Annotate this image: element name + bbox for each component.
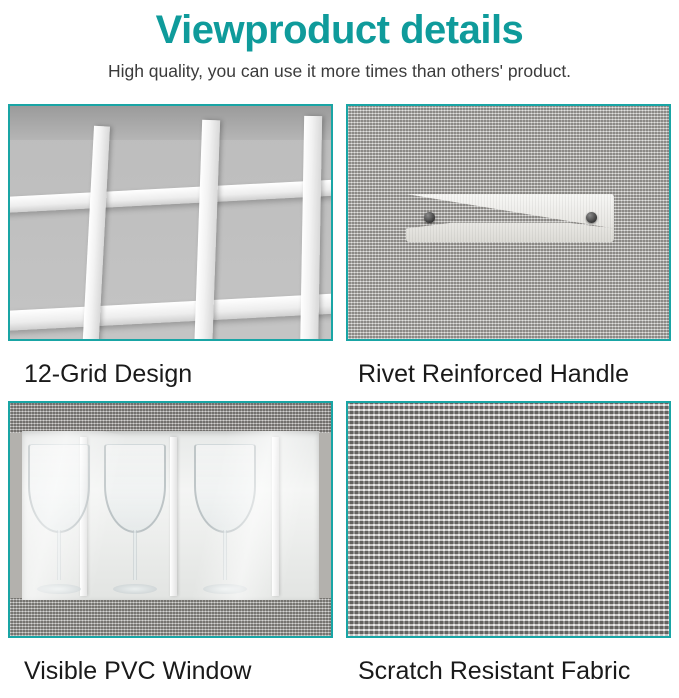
glass-foot: [113, 584, 157, 594]
feature-grid: 12-Grid Design Rivet Reinforced Handle: [8, 104, 671, 698]
feature-caption-2: Rivet Reinforced Handle: [346, 341, 671, 401]
feature-caption-3: Visible PVC Window: [8, 638, 333, 698]
pvc-window-glasses-photo: [8, 401, 333, 638]
product-detail-page: Viewproduct details High quality, you ca…: [0, 6, 679, 679]
fabric-weave-texture: [348, 403, 669, 636]
feature-caption-1: 12-Grid Design: [8, 341, 333, 401]
inner-divider-2: [170, 437, 177, 596]
divider-vertical-3: [300, 116, 322, 341]
box-bottom-edge: [10, 598, 331, 636]
feature-card-4: Scratch Resistant Fabric: [346, 401, 671, 698]
glass-stem: [133, 530, 137, 580]
box-rim: [10, 106, 331, 140]
fabric-closeup-photo: [346, 401, 671, 638]
feature-card-3: Visible PVC Window: [8, 401, 333, 698]
rivet-right: [586, 212, 597, 223]
pvc-window: [22, 431, 319, 600]
box-top-edge: [10, 403, 331, 433]
feature-caption-4: Scratch Resistant Fabric: [346, 638, 671, 698]
rivet-left: [424, 212, 435, 223]
grid-compartments-photo: [8, 104, 333, 341]
divider-horizontal-2: [8, 293, 333, 331]
feature-card-1: 12-Grid Design: [8, 104, 333, 401]
rivet-handle-photo: [346, 104, 671, 341]
fabric-texture: [348, 106, 669, 339]
feature-card-2: Rivet Reinforced Handle: [346, 104, 671, 401]
page-title: Viewproduct details: [0, 6, 679, 54]
page-subtitle: High quality, you can use it more times …: [0, 60, 679, 82]
divider-horizontal-1: [8, 179, 333, 213]
